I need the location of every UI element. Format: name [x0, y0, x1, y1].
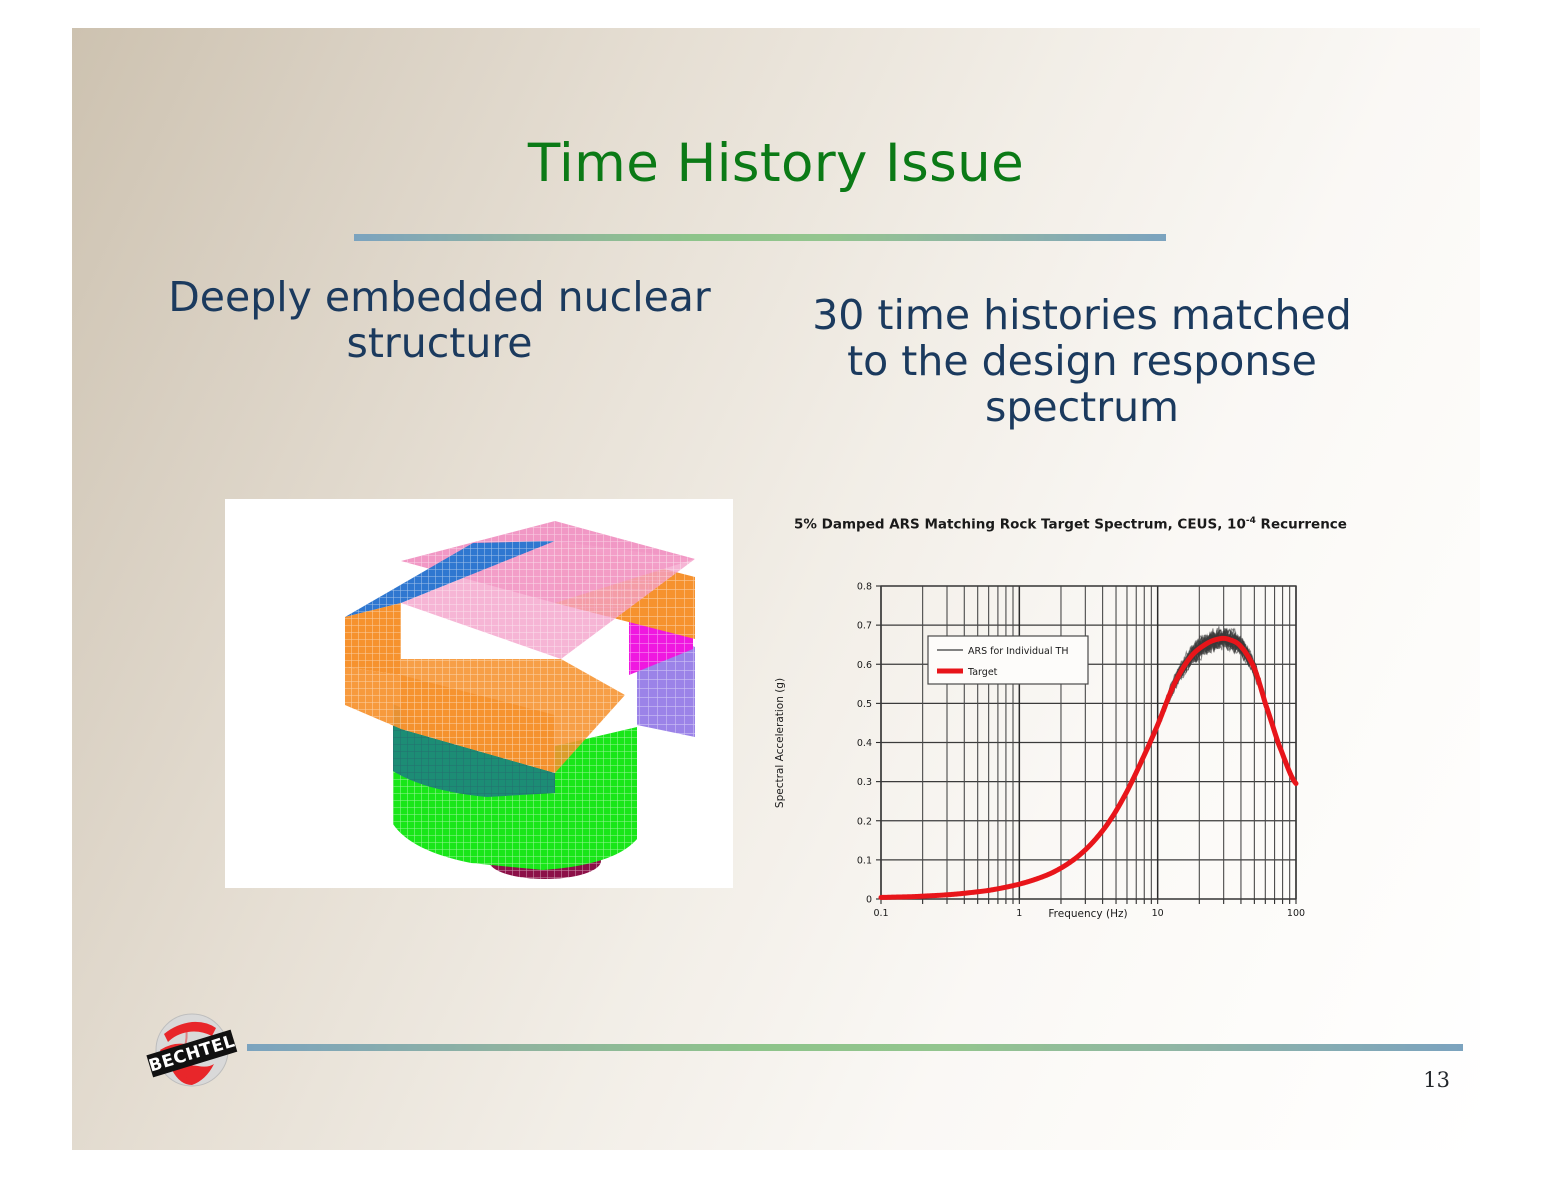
y-tick-label: 0.7	[857, 621, 872, 632]
x-axis-label: Frequency (Hz)	[1048, 908, 1127, 920]
title-divider-rule	[354, 234, 1166, 241]
y-axis-label: Spectral Acceleration (g)	[774, 678, 786, 808]
y-tick-label: 0.1	[857, 855, 872, 866]
bechtel-logo: BECHTEL	[142, 1006, 242, 1094]
y-tick-label: 0.3	[857, 777, 872, 788]
x-tick-label: 1	[1016, 908, 1022, 919]
page-title: Time History Issue	[72, 133, 1480, 194]
chart-plot: 00.10.20.30.40.50.60.70.8 0.1110100 Spec…	[757, 508, 1384, 923]
x-tick-label: 0.1	[873, 908, 888, 919]
x-tick-label: 10	[1152, 908, 1164, 919]
y-tick-label: 0.8	[857, 582, 872, 593]
y-axis-tick-labels: 00.10.20.30.40.50.60.70.8	[857, 582, 872, 906]
bechtel-logo-graphic: BECHTEL	[142, 1006, 242, 1094]
y-tick-label: 0.2	[857, 816, 872, 827]
heading-right: 30 time histories matched to the design …	[802, 293, 1362, 431]
y-tick-label: 0.6	[857, 660, 872, 671]
fe-model-graphic	[225, 499, 733, 888]
slide: Time History Issue Deeply embedded nucle…	[72, 28, 1480, 1150]
legend-label-target: Target	[967, 667, 998, 678]
y-tick-label: 0.4	[857, 738, 872, 749]
fe-model-image	[225, 499, 733, 888]
y-tick-label: 0	[866, 895, 872, 906]
y-tick-label: 0.5	[857, 699, 872, 710]
legend-box	[928, 636, 1088, 684]
heading-left: Deeply embedded nuclear structure	[132, 275, 747, 367]
x-tick-label: 100	[1287, 908, 1305, 919]
chart-legend: ARS for Individual TH Target	[928, 636, 1088, 684]
ars-spectrum-chart: 5% Damped ARS Matching Rock Target Spect…	[757, 508, 1384, 923]
footer-divider-rule	[247, 1044, 1463, 1051]
page-number: 13	[1423, 1068, 1450, 1092]
legend-label-individual-th: ARS for Individual TH	[968, 646, 1068, 657]
